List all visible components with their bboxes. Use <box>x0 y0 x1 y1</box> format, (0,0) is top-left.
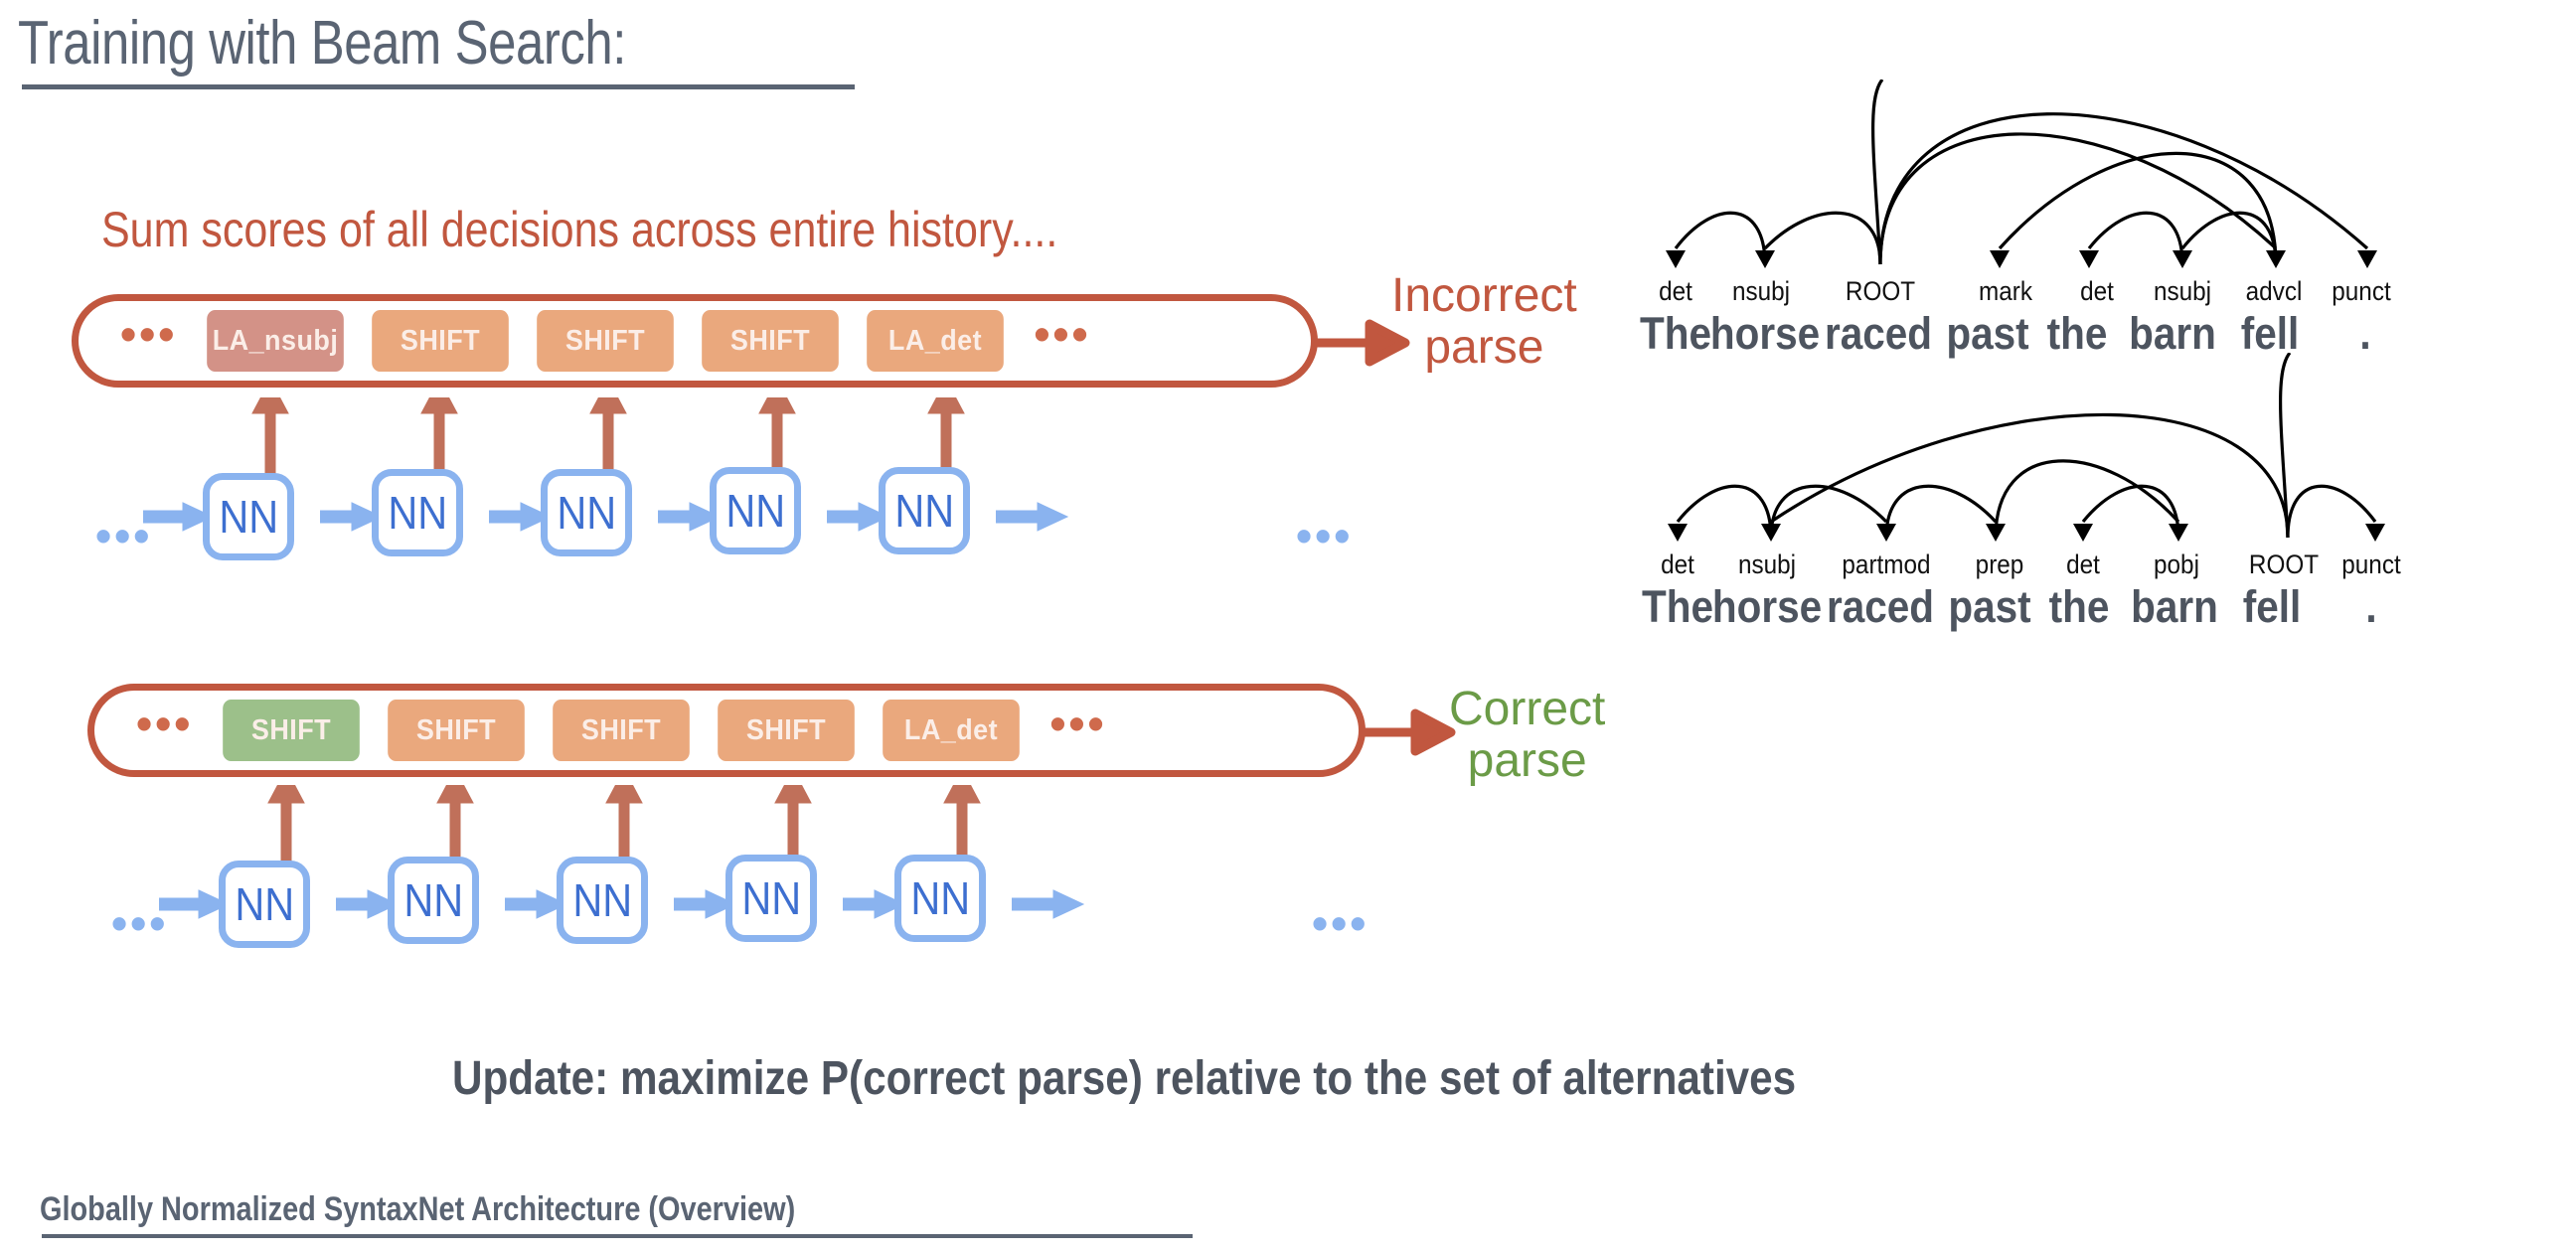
nn-unit-r2-5[interactable]: NN <box>894 855 986 942</box>
dep-word-4: the <box>2049 581 2110 633</box>
dep-word-7: . <box>2365 581 2376 633</box>
nn-unit-label: NN <box>557 486 616 540</box>
nn-unit-label: NN <box>894 484 954 538</box>
decision-box-shift-correct[interactable]: SHIFT <box>224 700 361 761</box>
nn-unit-label: NN <box>741 871 801 925</box>
decision-box-shift-3[interactable]: SHIFT <box>719 700 856 761</box>
nn-unit-r2-3[interactable]: NN <box>557 857 648 944</box>
beam-trailing-ellipsis: ••• <box>1034 714 1122 746</box>
dep-label-2: partmod <box>1842 549 1930 580</box>
dep-label-0: det <box>1659 276 1692 307</box>
dep-word-1: horse <box>1712 581 1822 633</box>
page-title-underline <box>22 84 855 89</box>
nn-unit-label: NN <box>910 871 970 925</box>
nn-unit-label: NN <box>725 484 785 538</box>
beam-leading-ellipsis: ••• <box>120 714 209 746</box>
nn-unit-r2-2[interactable]: NN <box>388 857 479 944</box>
dep-word-2: raced <box>1827 581 1934 633</box>
dep-word-3: past <box>1948 581 2030 633</box>
nn-unit-label: NN <box>235 877 294 931</box>
dep-word-6: fell <box>2243 581 2302 633</box>
sum-scores-caption: Sum scores of all decisions across entir… <box>101 201 1057 258</box>
dep-word-0: The <box>1642 581 1713 633</box>
correct-parse-tree: det nsubj partmod prep det pobj ROOT pun… <box>1620 353 2554 641</box>
nn-row-2-trailing-ellipsis: ••• <box>1296 914 1384 946</box>
beam-leading-ellipsis: ••• <box>104 325 193 357</box>
correct-parse-label-line1: Correct <box>1449 684 1605 735</box>
nn-unit-r2-4[interactable]: NN <box>725 855 817 942</box>
dep-label-1: nsubj <box>1732 276 1790 307</box>
incorrect-parse-label-line1: Incorrect <box>1391 270 1577 322</box>
incorrect-parse-label: Incorrect parse <box>1391 270 1577 374</box>
dep-label-1: nsubj <box>1738 549 1796 580</box>
nn-unit-r2-1[interactable]: NN <box>219 861 310 948</box>
dep-label-5: nsubj <box>2154 276 2211 307</box>
dep-label-5: pobj <box>2154 549 2199 580</box>
nn-row-1-leading-ellipsis: ••• <box>80 527 168 558</box>
decision-box-shift-1[interactable]: SHIFT <box>373 310 510 372</box>
incorrect-beam-capsule: ••• LA_nsubj SHIFT SHIFT SHIFT LA_det ••… <box>72 294 1318 388</box>
nn-unit-label: NN <box>388 486 447 540</box>
dep-label-3: mark <box>1979 276 2032 307</box>
nn-unit-label: NN <box>572 873 632 927</box>
decision-box-shift-1[interactable]: SHIFT <box>389 700 526 761</box>
dep-label-7: punct <box>2341 549 2400 580</box>
incorrect-parse-label-line2: parse <box>1391 322 1577 374</box>
decision-box-shift-2[interactable]: SHIFT <box>538 310 675 372</box>
dep-label-7: punct <box>2332 276 2390 307</box>
decision-box-la-det[interactable]: LA_det <box>884 700 1021 761</box>
nn-unit-r1-5[interactable]: NN <box>879 467 970 554</box>
dep-label-4: det <box>2080 276 2114 307</box>
decision-box-la-nsubj[interactable]: LA_nsubj <box>208 310 345 372</box>
dep-label-6: advcl <box>2246 276 2303 307</box>
nn-unit-r1-3[interactable]: NN <box>541 469 632 556</box>
decision-box-la-det[interactable]: LA_det <box>868 310 1005 372</box>
dep-label-2: ROOT <box>1846 276 1915 307</box>
dep-label-3: prep <box>1976 549 2024 580</box>
dep-label-4: det <box>2066 549 2100 580</box>
nn-unit-label: NN <box>219 490 278 544</box>
correct-beam-capsule: ••• SHIFT SHIFT SHIFT SHIFT LA_det ••• <box>87 684 1366 777</box>
nn-unit-r1-1[interactable]: NN <box>203 473 294 560</box>
nn-unit-r1-4[interactable]: NN <box>710 467 801 554</box>
dep-label-6: ROOT <box>2249 549 2319 580</box>
nn-unit-r1-2[interactable]: NN <box>372 469 463 556</box>
update-caption: Update: maximize P(correct parse) relati… <box>452 1051 1796 1106</box>
dep-word-5: barn <box>2131 581 2218 633</box>
dep-label-0: det <box>1661 549 1694 580</box>
page-title: Training with Beam Search: <box>18 8 626 78</box>
nn-unit-label: NN <box>403 873 463 927</box>
correct-parse-label: Correct parse <box>1449 684 1605 787</box>
beam-trailing-ellipsis: ••• <box>1018 325 1106 357</box>
nn-row-2-leading-ellipsis: ••• <box>95 914 184 946</box>
footer-title: Globally Normalized SyntaxNet Architectu… <box>40 1190 795 1229</box>
incorrect-parse-tree: det nsubj ROOT mark det nsubj advcl punc… <box>1630 79 2554 368</box>
decision-box-shift-3[interactable]: SHIFT <box>703 310 840 372</box>
correct-parse-label-line2: parse <box>1449 735 1605 787</box>
decision-box-shift-2[interactable]: SHIFT <box>554 700 691 761</box>
footer-underline <box>42 1234 1193 1238</box>
nn-row-1-trailing-ellipsis: ••• <box>1280 527 1368 558</box>
